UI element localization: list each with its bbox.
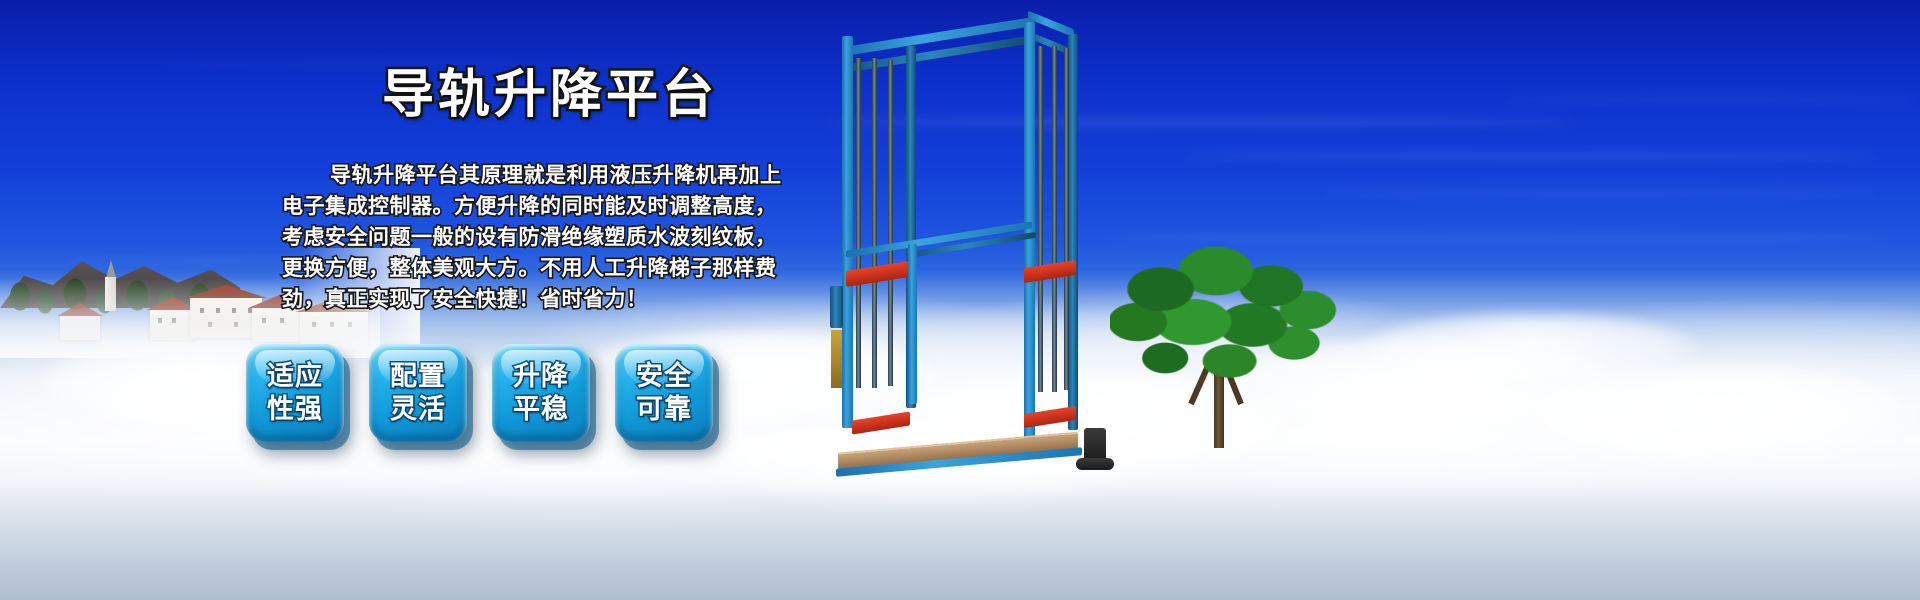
machine-column-front-right <box>1024 22 1035 440</box>
guide-rail <box>872 58 877 388</box>
feature-button-smooth-lifting[interactable]: 升降 平稳 <box>492 344 590 442</box>
tree-canopy <box>1110 238 1340 388</box>
feature-button-configuration[interactable]: 配置 灵活 <box>369 344 467 442</box>
description-line: 导轨升降平台其原理就是利用液压升降机再加上 <box>282 160 762 191</box>
machine-column-front-left <box>842 36 853 428</box>
guide-rail <box>1064 48 1069 390</box>
description-line: 劲，真正实现了安全快捷！省时省力！ <box>282 284 762 315</box>
guide-rail <box>888 60 893 386</box>
machine-column-back-right <box>1068 34 1078 430</box>
feature-label-line2: 性强 <box>267 393 323 426</box>
page-title: 导轨升降平台 <box>382 52 718 127</box>
guide-rail <box>1038 46 1043 392</box>
control-box <box>830 286 843 328</box>
promo-banner: 导轨升降平台 导轨升降平台其原理就是利用液压升降机再加上 电子集成控制器。方便升… <box>0 0 1920 600</box>
feature-button-adaptability[interactable]: 适应 性强 <box>246 344 344 442</box>
description-line: 电子集成控制器。方便升降的同时能及时调整高度， <box>282 191 762 222</box>
feature-label-line2: 灵活 <box>390 393 446 426</box>
guide-rail-lift-platform-machine <box>828 18 1128 478</box>
base-block-left <box>852 411 910 434</box>
pump-base <box>1076 458 1114 470</box>
feature-button-row: 适应 性强 配置 灵活 升降 平稳 安全 可靠 <box>246 344 713 442</box>
yellow-guard <box>831 330 842 388</box>
guide-rail <box>856 58 861 388</box>
feature-label-line2: 可靠 <box>636 393 692 426</box>
guide-rail <box>1052 46 1057 392</box>
description-paragraph: 导轨升降平台其原理就是利用液压升降机再加上 电子集成控制器。方便升降的同时能及时… <box>282 160 762 315</box>
machine-mid-post <box>908 244 917 404</box>
feature-label-line1: 升降 <box>513 360 569 393</box>
cirrus-streak <box>1500 96 1920 102</box>
feature-label-line1: 适应 <box>267 360 323 393</box>
cloud-shadow-band <box>0 480 1920 600</box>
feature-label-line2: 平稳 <box>513 393 569 426</box>
description-line: 考虑安全问题一般的设有防滑绝缘塑质水波刻纹板， <box>282 222 762 253</box>
green-tree <box>1110 238 1340 458</box>
cloud-bump <box>1360 314 1700 384</box>
feature-label-line1: 配置 <box>390 360 446 393</box>
cirrus-streak <box>1320 190 1880 196</box>
feature-button-safety[interactable]: 安全 可靠 <box>615 344 713 442</box>
cirrus-streak <box>1180 152 1880 159</box>
feature-label-line1: 安全 <box>636 360 692 393</box>
description-line: 更换方便，整体美观大方。不用人工升降梯子那样费 <box>282 253 762 284</box>
